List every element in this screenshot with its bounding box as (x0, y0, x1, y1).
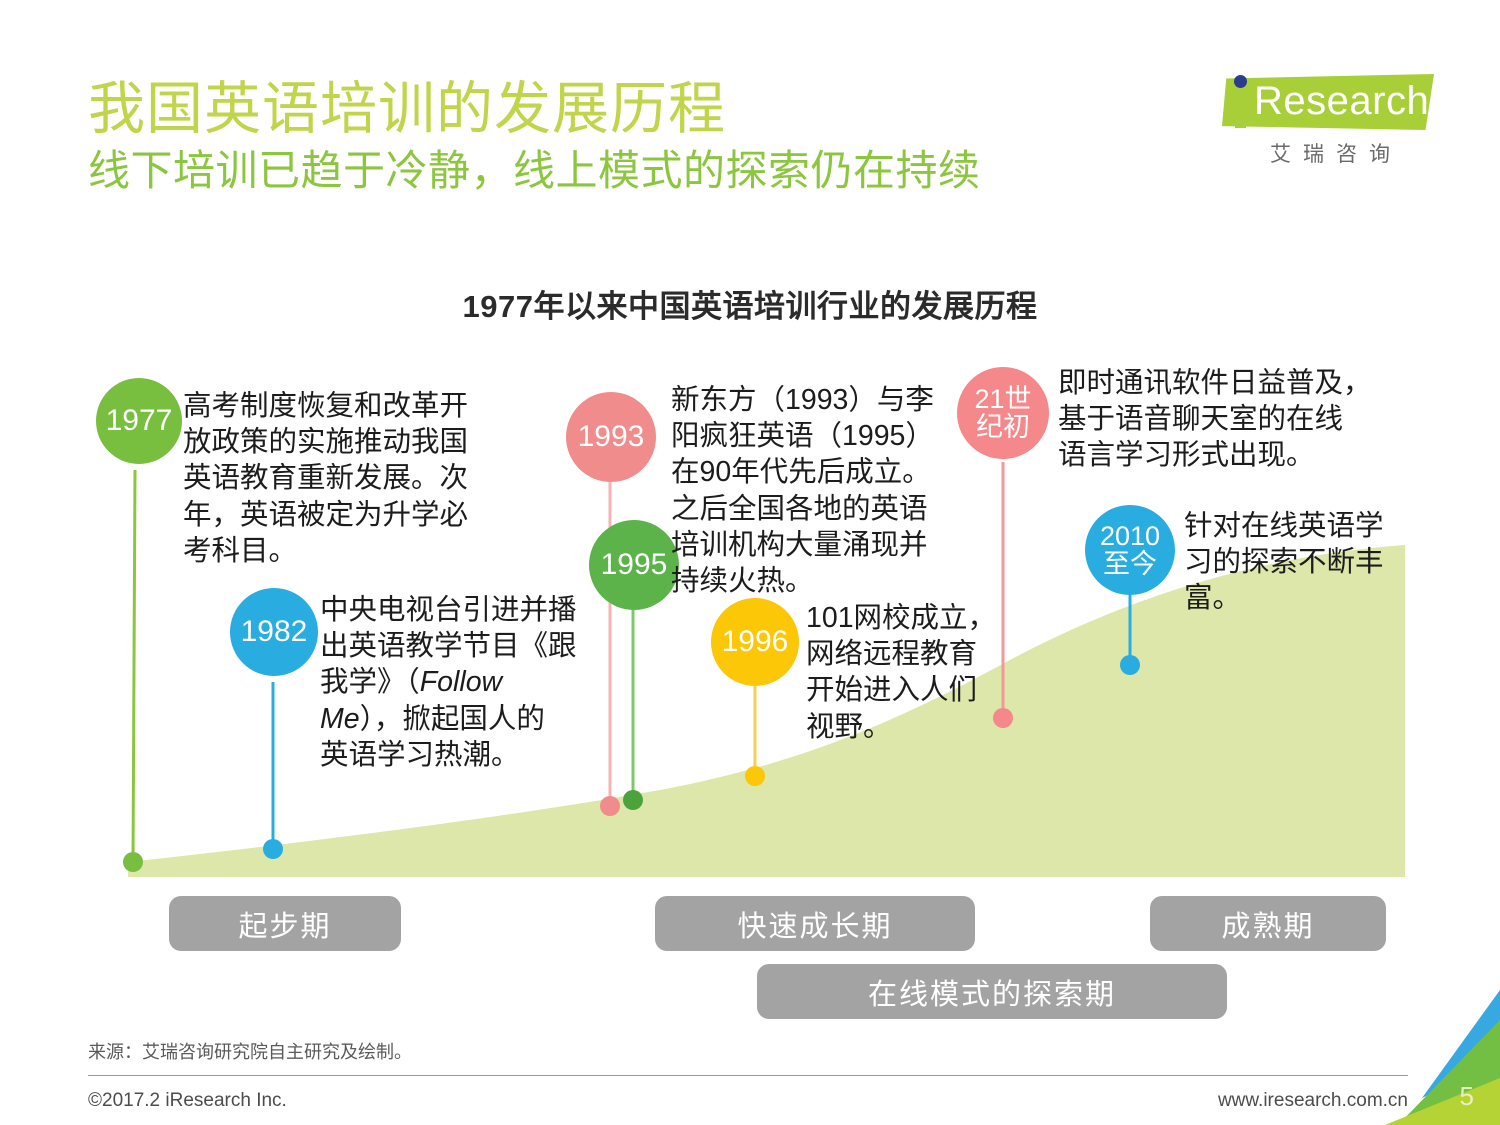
year-label-1982: 1982 (241, 616, 308, 647)
year-label-21c-line2: 纪初 (976, 413, 1030, 441)
node-description-1977: 高考制度恢复和改革开 放政策的实施推动我国 英语教育重新发展。次 年，英语被定为… (183, 388, 503, 569)
stem-dot-1993 (600, 796, 620, 816)
year-bubble-2010[interactable]: 2010 至今 (1085, 505, 1175, 595)
phase-label-growth[interactable]: 快速成长期 (655, 896, 975, 951)
stem-dot-1982 (263, 839, 283, 859)
year-bubble-1996[interactable]: 1996 (711, 598, 799, 686)
stem-dot-1977 (123, 852, 143, 872)
phase-label-online-text: 在线模式的探索期 (868, 971, 1116, 1013)
phase-label-mature[interactable]: 成熟期 (1150, 896, 1386, 951)
slide-canvas: 我国英语培训的发展历程 线下培训已趋于冷静，线上模式的探索仍在持续 Resear… (0, 0, 1500, 1125)
phase-label-startup[interactable]: 起步期 (169, 896, 401, 951)
year-label-1993: 1993 (578, 421, 645, 452)
year-bubble-1982[interactable]: 1982 (230, 588, 318, 676)
stem-dot-2010 (1120, 655, 1140, 675)
phase-label-startup-text: 起步期 (238, 903, 331, 945)
node-description-1993: 新东方（1993）与李 阳疯狂英语（1995） 在90年代先后成立。 之后全国各… (671, 382, 971, 599)
stem-1977 (133, 470, 135, 862)
year-label-1996: 1996 (722, 626, 789, 657)
year-bubble-1993[interactable]: 1993 (566, 392, 656, 482)
year-label-21c-line1: 21世 (974, 385, 1031, 413)
node-description-21c: 即时通讯软件日益普及， 基于语音聊天室的在线 语言学习形式出现。 (1058, 365, 1418, 474)
year-label-1977: 1977 (106, 405, 173, 436)
phase-label-growth-text: 快速成长期 (737, 903, 892, 945)
stem-dot-1996 (745, 766, 765, 786)
phase-label-online[interactable]: 在线模式的探索期 (757, 964, 1227, 1019)
year-label-1995: 1995 (601, 549, 668, 580)
year-label-2010-line1: 2010 (1100, 522, 1160, 550)
corner-decoration (1370, 990, 1500, 1125)
year-label-2010-line2: 至今 (1103, 550, 1157, 578)
stem-dot-1995 (623, 790, 643, 810)
node-description-2010: 针对在线英语学 习的探索不断丰 富。 (1184, 508, 1414, 617)
year-bubble-1977[interactable]: 1977 (96, 378, 182, 464)
node-description-1982: 中央电视台引进并播 出英语教学节目《跟 我学》（Follow Me），掀起国人的… (320, 592, 620, 773)
phase-label-mature-text: 成熟期 (1221, 903, 1314, 945)
page-number: 5 (1460, 1081, 1474, 1112)
node-description-1996: 101网校成立， 网络远程教育 开始进入人们 视野。 (806, 600, 1006, 745)
